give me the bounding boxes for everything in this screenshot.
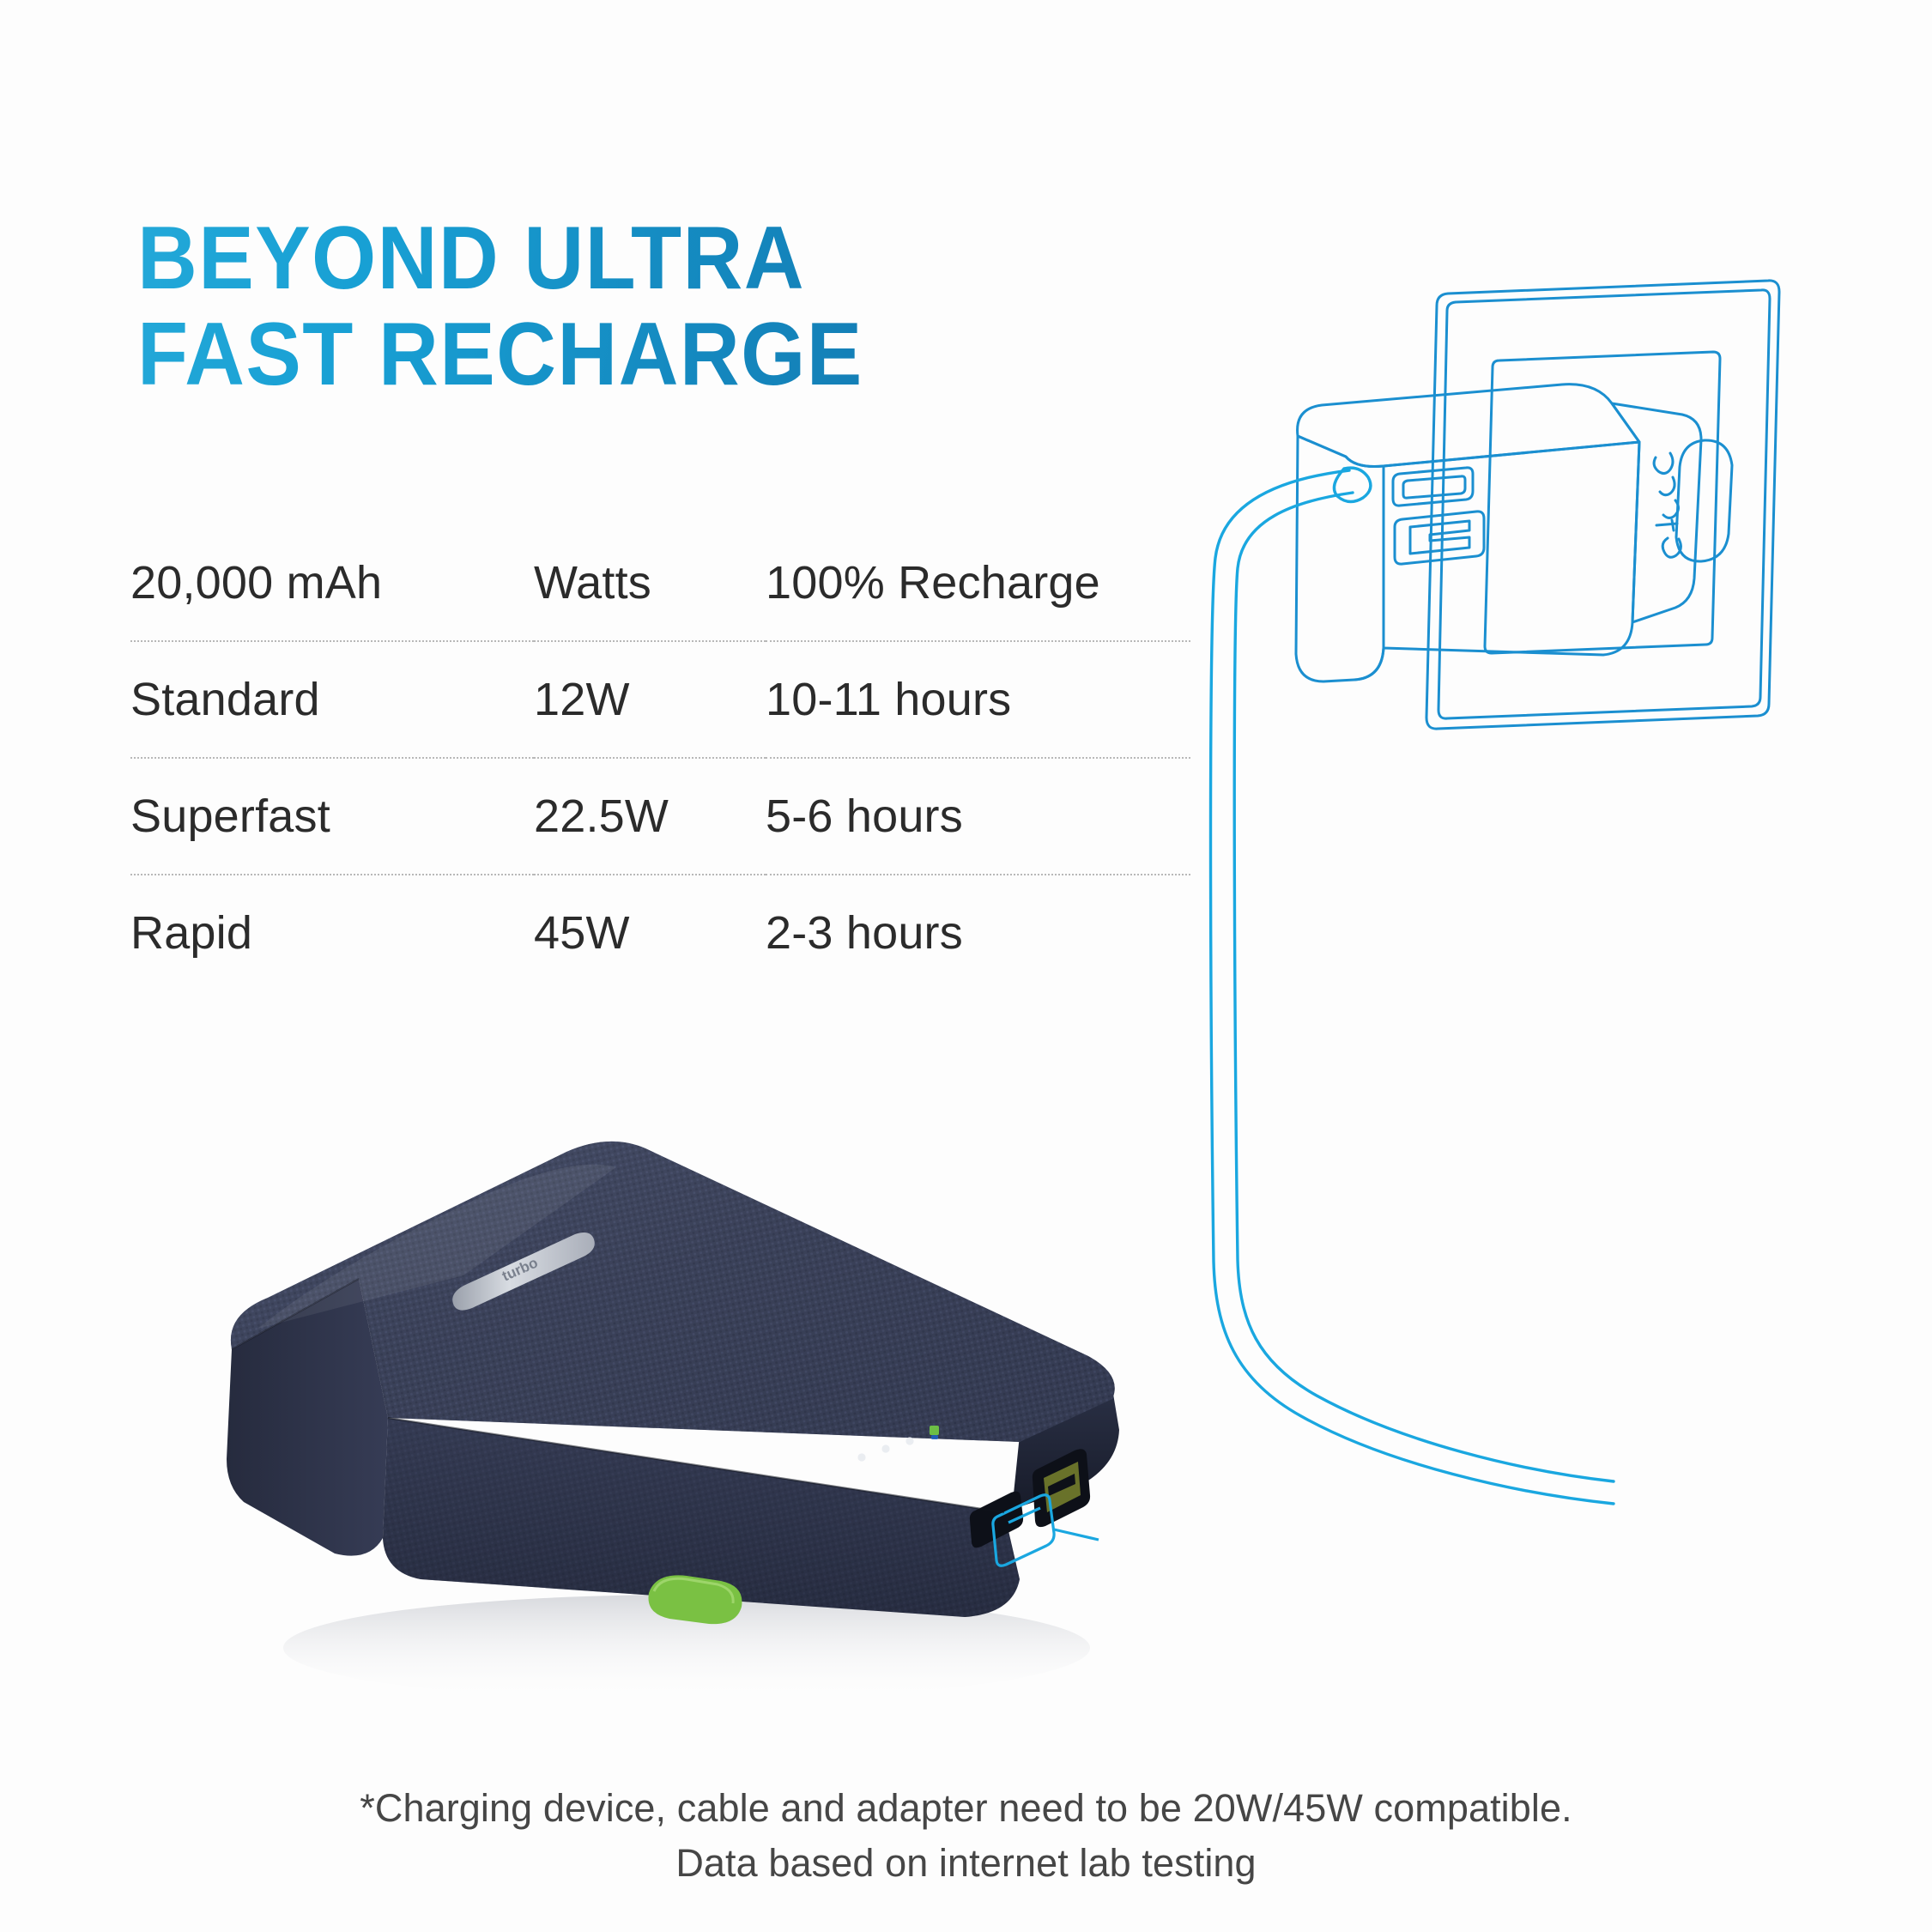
table-row: Standard 12W 10-11 hours [130,641,1190,758]
infographic-page: BEYOND ULTRA FAST RECHARGE 20,000 mAh Wa… [0,0,1932,1932]
spec-table: 20,000 mAh Watts 100% Recharge Standard … [130,525,1190,990]
cell-time-rapid: 2-3 hours [766,875,1190,990]
column-header-recharge: 100% Recharge [766,525,1190,641]
cell-mode-rapid: Rapid [130,875,534,990]
led-indicator-active [930,1426,939,1435]
power-bank-product-image: turbo [206,1099,1279,1717]
table-row: Rapid 45W 2-3 hours [130,875,1190,990]
led-indicator [857,1453,865,1461]
footnote-line-2: Data based on internet lab testing [0,1836,1932,1891]
cell-time-superfast: 5-6 hours [766,758,1190,875]
table-header-row: 20,000 mAh Watts 100% Recharge [130,525,1190,641]
cell-watts-standard: 12W [534,641,766,758]
cell-watts-superfast: 22.5W [534,758,766,875]
cell-time-standard: 10-11 hours [766,641,1190,758]
headline-line-1: BEYOND ULTRA [137,210,1175,306]
footnote-line-1: *Charging device, cable and adapter need… [0,1781,1932,1836]
cell-mode-superfast: Superfast [130,758,534,875]
footnote: *Charging device, cable and adapter need… [0,1781,1932,1891]
column-header-capacity: 20,000 mAh [130,525,534,641]
table-row: Superfast 22.5W 5-6 hours [130,758,1190,875]
charger-prong-cover [1676,440,1732,561]
page-title: BEYOND ULTRA FAST RECHARGE [137,210,1175,403]
led-indicator [881,1444,889,1452]
cell-mode-standard: Standard [130,641,534,758]
column-header-watts: Watts [534,525,766,641]
headline-line-2: FAST RECHARGE [137,306,1175,403]
cell-watts-rapid: 45W [534,875,766,990]
led-indicator [905,1437,913,1444]
